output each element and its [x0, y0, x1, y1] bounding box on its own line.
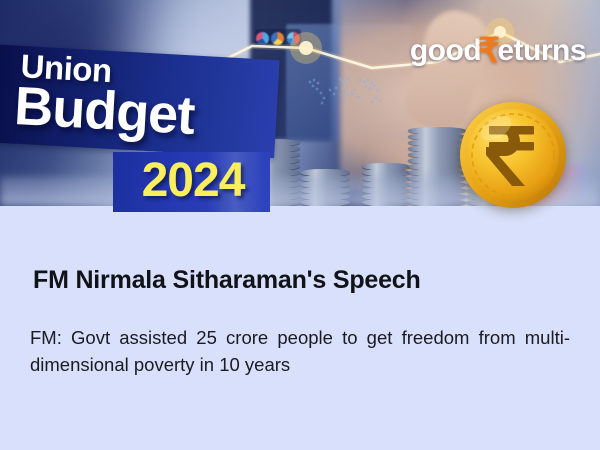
goodreturns-logo[interactable]: good₹eturns: [410, 34, 586, 68]
article-content: FM Nirmala Sitharaman's Speech FM: Govt …: [0, 206, 600, 450]
article-summary: FM: Govt assisted 25 crore people to get…: [30, 324, 570, 378]
logo-text-left: good: [410, 36, 481, 66]
union-budget-banner: [0, 44, 280, 158]
news-card: good₹eturns Union Budget 2024: [0, 0, 600, 450]
page-title: FM Nirmala Sitharaman's Speech: [33, 266, 421, 295]
year-badge: [113, 152, 270, 212]
rupee-coin-icon: [458, 100, 568, 210]
logo-text-right: eturns: [497, 36, 586, 66]
